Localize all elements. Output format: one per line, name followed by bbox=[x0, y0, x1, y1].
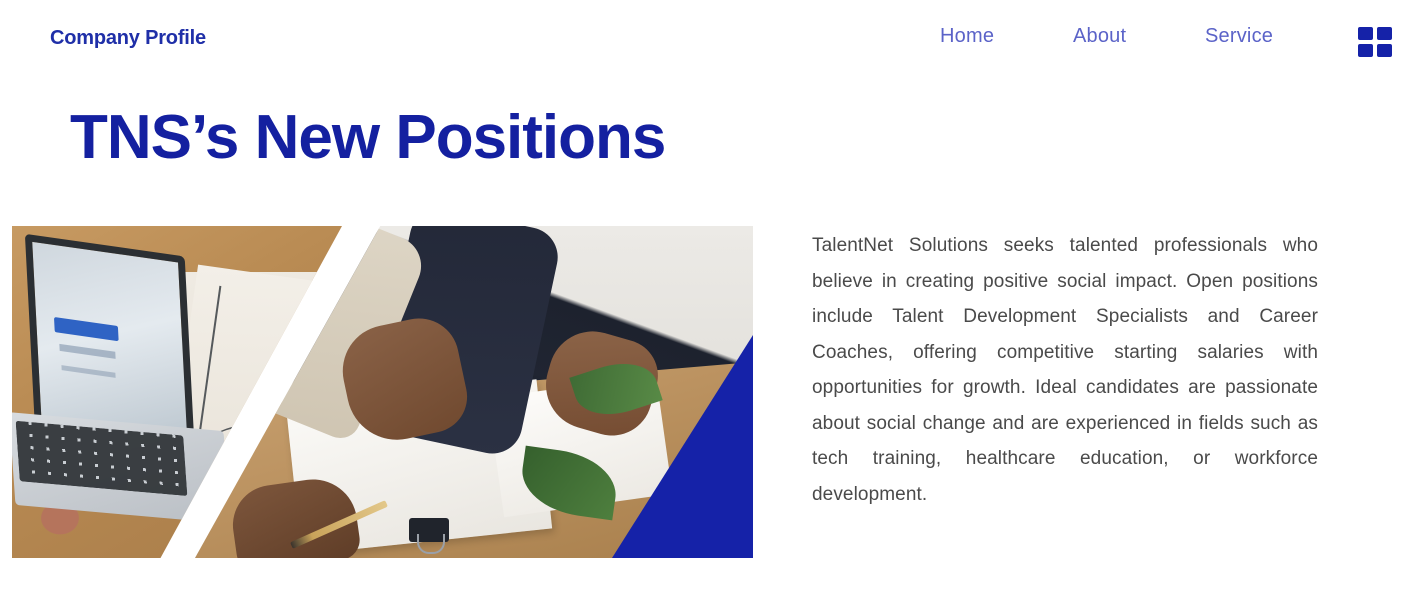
hero-body-text: TalentNet Solutions seeks talented profe… bbox=[812, 228, 1318, 512]
nav-link-about[interactable]: About bbox=[1073, 25, 1205, 48]
grid-menu-icon-cell bbox=[1358, 27, 1373, 40]
main-navigation: Home About Service bbox=[940, 25, 1337, 48]
grid-menu-icon-cell bbox=[1358, 44, 1373, 57]
binder-clip bbox=[409, 518, 449, 542]
page-root: Company Profile Home About Service TNS’s… bbox=[0, 0, 1426, 602]
laptop-keyboard bbox=[12, 412, 230, 524]
nav-link-home[interactable]: Home bbox=[940, 25, 1073, 48]
site-header: Company Profile Home About Service bbox=[0, 0, 1426, 80]
photo-collage bbox=[12, 226, 753, 558]
grid-menu-icon-cell bbox=[1377, 44, 1392, 57]
page-title: TNS’s New Positions bbox=[70, 105, 665, 170]
grid-menu-icon[interactable] bbox=[1358, 27, 1392, 57]
nav-link-service[interactable]: Service bbox=[1205, 25, 1337, 48]
grid-menu-icon-cell bbox=[1377, 27, 1392, 40]
brand-logo[interactable]: Company Profile bbox=[50, 27, 206, 50]
